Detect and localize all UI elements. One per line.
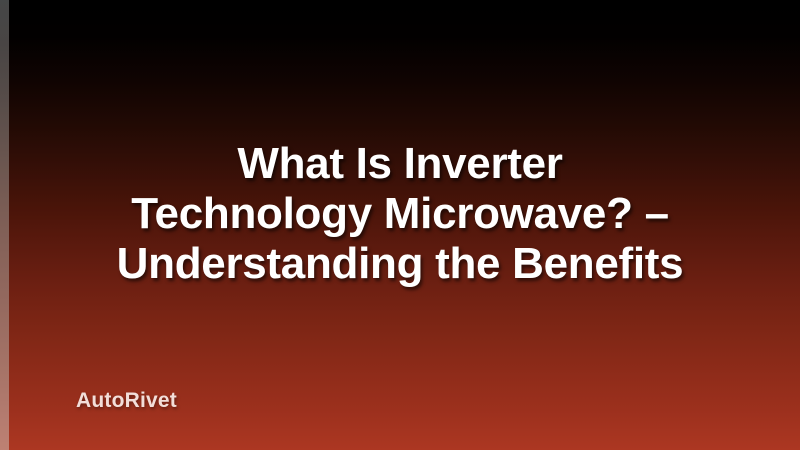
page-title: What Is Inverter Technology Microwave? –… (0, 139, 800, 289)
title-line-1: What Is Inverter (30, 139, 770, 189)
share-card: What Is Inverter Technology Microwave? –… (0, 0, 800, 450)
brand-wordmark: AutoRivet (76, 389, 177, 413)
title-line-2: Technology Microwave? – (30, 189, 770, 239)
title-line-3: Understanding the Benefits (30, 239, 770, 289)
